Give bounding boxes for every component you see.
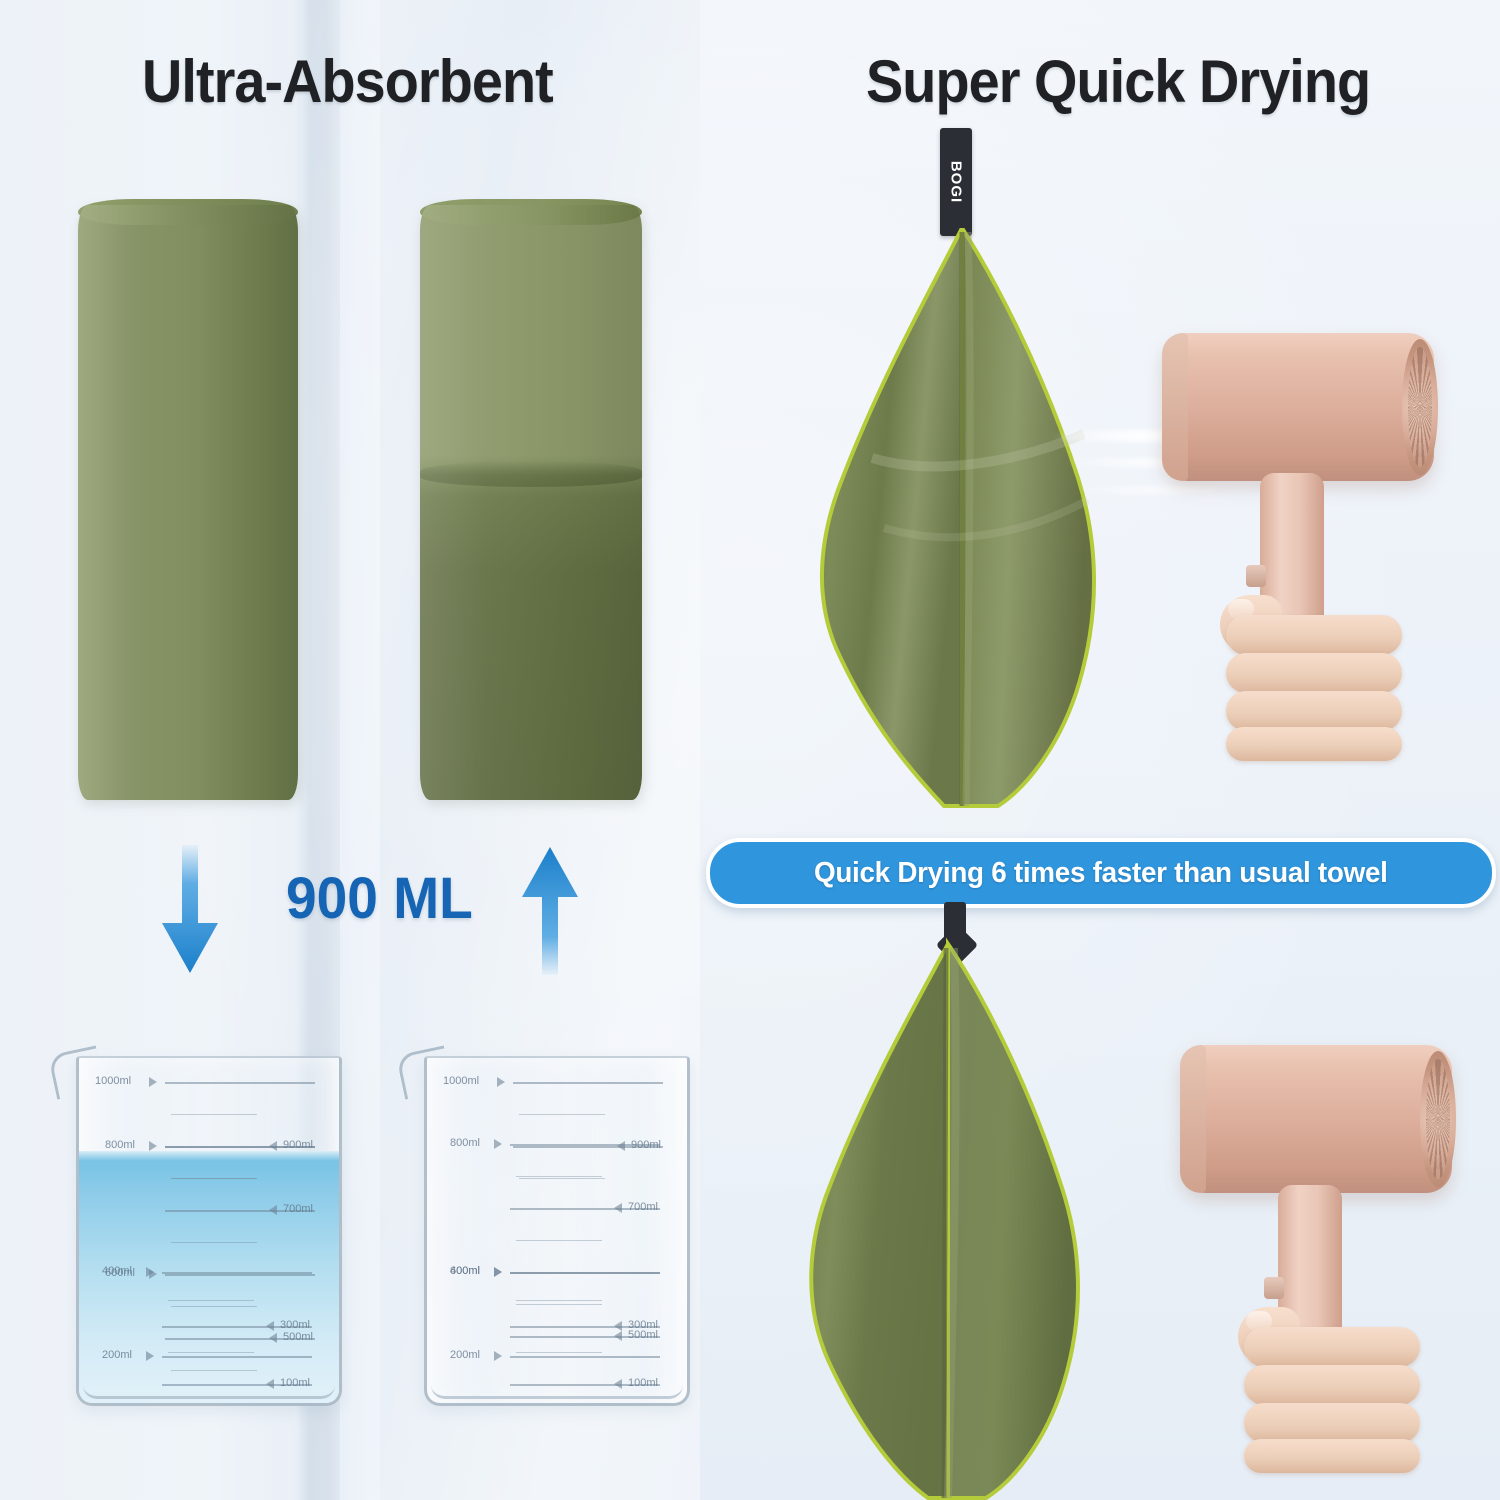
beaker-scale-overlay: 800ml 700ml 600ml 500ml <box>424 1056 684 1401</box>
banner-text: Quick Drying 6 times faster than usual t… <box>814 857 1388 890</box>
dryer-button-upper[interactable] <box>1264 1277 1284 1299</box>
towel-roll-wet-sheen <box>420 205 642 800</box>
beaker-base <box>83 1380 335 1399</box>
dryer-barrel <box>1162 333 1434 481</box>
beaker-tick-500: 500ml <box>283 1331 313 1343</box>
beaker-tick-900: 900ml <box>283 1139 313 1151</box>
finger-row <box>1226 615 1402 655</box>
hanging-towel-top <box>812 228 1142 808</box>
finger-row <box>1226 691 1402 731</box>
heading-ultra-absorbent: Ultra-Absorbent <box>142 52 553 112</box>
beaker-tick-700: 700ml <box>628 1201 658 1213</box>
dryer-button-upper[interactable] <box>1246 565 1266 587</box>
brand-hang-tag: BOGI <box>940 128 972 236</box>
beaker-tick-800: 800ml <box>450 1137 480 1149</box>
towel-roll-dry <box>78 205 298 800</box>
heading-super-quick-drying: Super Quick Drying <box>866 52 1370 112</box>
hanging-towel-bottom <box>796 930 1126 1500</box>
hair-dryer-bottom <box>1180 1045 1500 1465</box>
hand-holding-dryer <box>1226 591 1402 753</box>
dryer-rear-grill <box>1402 339 1438 475</box>
towel-roll-wet <box>420 205 642 800</box>
finger-row <box>1244 1439 1420 1473</box>
beaker-tick-1000: 1000ml <box>95 1075 131 1087</box>
beaker-body: 1000ml 900ml 800ml 700ml <box>76 1056 342 1406</box>
dryer-nozzle-rim <box>1180 1045 1206 1193</box>
up-arrow-icon <box>520 845 580 975</box>
hair-dryer-top <box>1162 333 1500 753</box>
beaker-tick-800: 800ml <box>105 1139 135 1151</box>
infographic-canvas: Ultra-Absorbent Super Quick Drying 900 M… <box>0 0 1500 1500</box>
brand-name: BOGI <box>948 161 965 203</box>
finger-row <box>1226 727 1402 761</box>
dryer-barrel <box>1180 1045 1452 1193</box>
dryer-rear-grill <box>1420 1051 1456 1187</box>
quick-drying-banner: Quick Drying 6 times faster than usual t… <box>706 838 1496 908</box>
down-arrow-icon <box>160 845 220 975</box>
finger-row <box>1244 1403 1420 1443</box>
finger-row <box>1226 653 1402 693</box>
volume-label: 900 ML <box>286 865 473 932</box>
beaker-with-water: 1000ml 900ml 800ml 700ml <box>52 1042 340 1407</box>
beaker-empty: 1000ml 900ml 800ml 700ml 600ml 500ml <box>400 1042 688 1407</box>
finger-row <box>1244 1327 1420 1367</box>
hand-holding-dryer <box>1244 1303 1420 1465</box>
dryer-nozzle-rim <box>1162 333 1188 481</box>
beaker-tick-600: 600ml <box>450 1265 480 1277</box>
towel-roll-dry-sheen <box>78 205 298 800</box>
beaker-tick-600: 600ml <box>105 1267 135 1279</box>
finger-row <box>1244 1365 1420 1405</box>
beaker-tick-500: 500ml <box>628 1329 658 1341</box>
beaker-tick-700: 700ml <box>283 1203 313 1215</box>
